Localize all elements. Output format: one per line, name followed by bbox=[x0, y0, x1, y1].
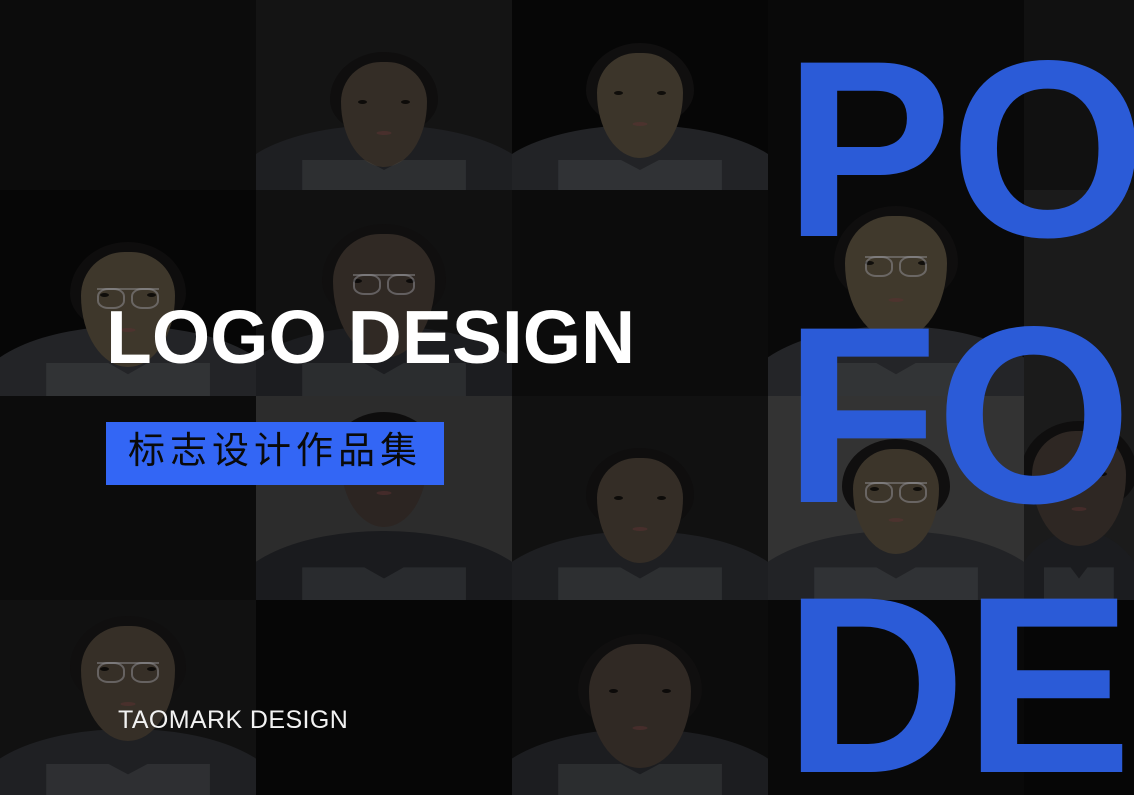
portrait-glasses bbox=[865, 256, 927, 275]
empty-photo-tile bbox=[256, 600, 512, 795]
portrait-mouth bbox=[633, 527, 648, 531]
portrait-mouth bbox=[377, 316, 392, 320]
empty-photo-tile bbox=[1024, 190, 1134, 396]
photo-mosaic-grid bbox=[0, 0, 1134, 795]
portrait-figure bbox=[0, 600, 256, 795]
portrait-face bbox=[341, 422, 427, 527]
portrait-eye bbox=[614, 496, 623, 500]
empty-photo-tile bbox=[768, 0, 1024, 190]
portrait-figure bbox=[512, 396, 768, 600]
portrait-figure bbox=[256, 0, 512, 190]
portrait-photo-tile bbox=[512, 396, 768, 600]
empty-photo-tile bbox=[512, 190, 768, 396]
portrait-mouth bbox=[889, 518, 904, 522]
portrait-photo-tile bbox=[768, 190, 1024, 396]
portrait-figure bbox=[512, 600, 768, 795]
portrait-photo-tile bbox=[0, 600, 256, 795]
portrait-glasses bbox=[97, 288, 159, 307]
portrait-mouth bbox=[889, 298, 904, 302]
portrait-eye bbox=[358, 100, 367, 104]
empty-photo-tile bbox=[0, 396, 256, 600]
portrait-face bbox=[1032, 431, 1126, 546]
empty-photo-tile bbox=[1024, 0, 1134, 190]
empty-photo-tile bbox=[768, 600, 1024, 795]
portrait-photo-tile bbox=[256, 0, 512, 190]
portrait-photo-tile bbox=[0, 190, 256, 396]
portrait-glasses bbox=[353, 274, 415, 293]
portrait-mouth bbox=[377, 491, 392, 495]
portrait-figure bbox=[256, 396, 512, 600]
portrait-mouth bbox=[633, 726, 648, 730]
portrait-figure bbox=[512, 0, 768, 190]
empty-photo-tile bbox=[1024, 600, 1134, 795]
portrait-figure bbox=[0, 190, 256, 396]
portrait-mouth bbox=[121, 702, 136, 706]
portrait-photo-tile bbox=[768, 396, 1024, 600]
portrait-mouth bbox=[1072, 507, 1087, 511]
portrait-mouth bbox=[377, 131, 392, 135]
portrait-eye bbox=[657, 496, 666, 500]
portrait-eye bbox=[1098, 472, 1107, 476]
empty-photo-tile bbox=[0, 0, 256, 190]
portrait-face bbox=[845, 216, 947, 340]
portrait-photo-tile bbox=[256, 396, 512, 600]
portrait-mouth bbox=[633, 122, 648, 126]
portrait-eye bbox=[657, 91, 666, 95]
portrait-eye bbox=[614, 91, 623, 95]
portrait-mouth bbox=[121, 328, 136, 332]
portrait-eye bbox=[662, 689, 671, 693]
portrait-eye bbox=[609, 689, 618, 693]
portrait-face bbox=[81, 626, 175, 741]
portrait-photo-tile bbox=[512, 600, 768, 795]
portrait-glasses bbox=[97, 662, 159, 681]
portrait-glasses bbox=[865, 482, 927, 501]
portrait-photo-tile bbox=[512, 0, 768, 190]
portrait-eye bbox=[1051, 472, 1060, 476]
portrait-figure bbox=[256, 190, 512, 396]
portrait-eye bbox=[401, 460, 410, 464]
portrait-figure bbox=[1024, 396, 1134, 600]
portrait-photo-tile bbox=[256, 190, 512, 396]
portrait-figure bbox=[768, 396, 1024, 600]
logo-design-poster: PO FO DE LOGO DESIGN 标志设计作品集 TAOMARK DES… bbox=[0, 0, 1134, 795]
portrait-photo-tile bbox=[1024, 396, 1134, 600]
portrait-eye bbox=[401, 100, 410, 104]
portrait-figure bbox=[768, 190, 1024, 396]
portrait-eye bbox=[358, 460, 367, 464]
